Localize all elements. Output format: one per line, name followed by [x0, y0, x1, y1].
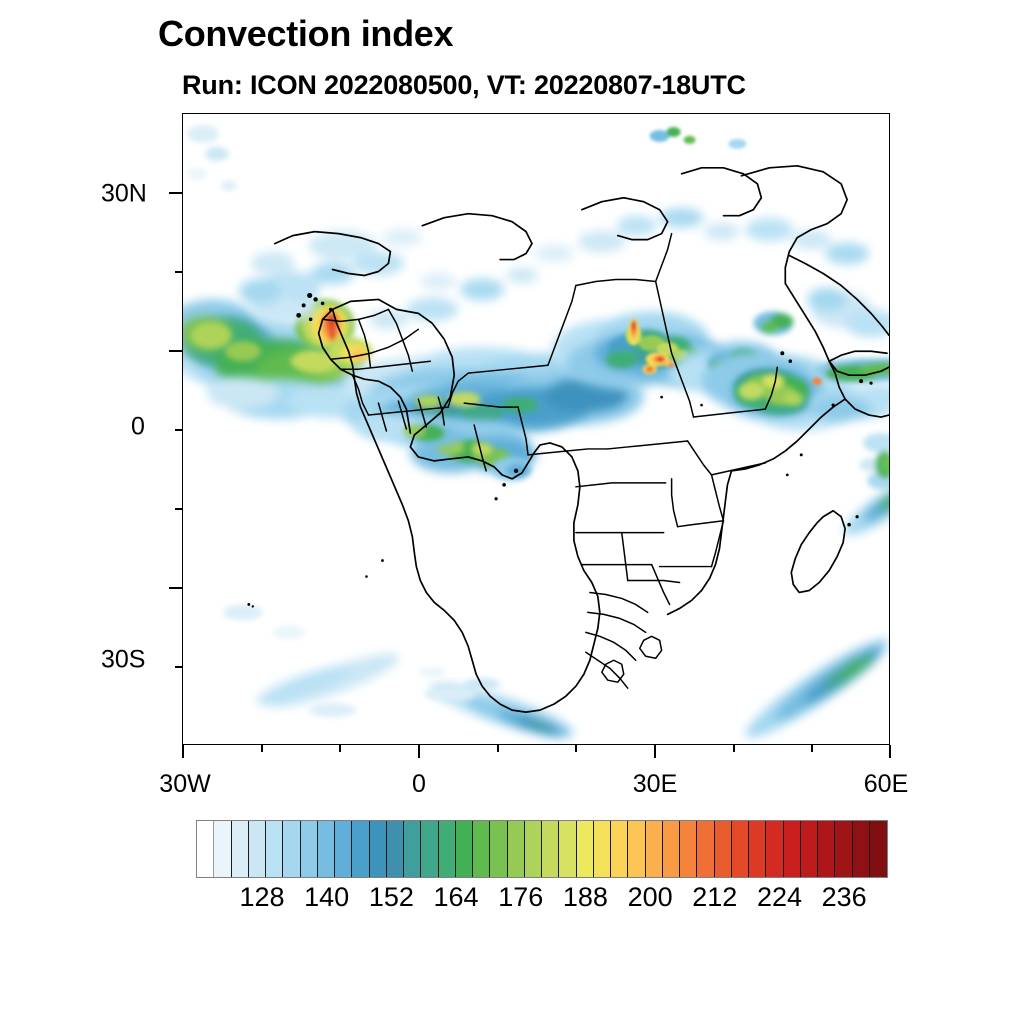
x-tick-major [418, 745, 420, 758]
colorbar-cell [697, 821, 714, 877]
colorbar-tick-label: 236 [822, 884, 867, 911]
convection-field-layer [183, 125, 889, 744]
colorbar-cell [387, 821, 404, 877]
x-axis-label-1: 0 [412, 772, 426, 797]
map-plot-area[interactable] [182, 113, 890, 745]
west-africa-atlantic-cluster [183, 278, 378, 419]
colorbar-cell [232, 821, 249, 877]
colorbar-tick-label: 224 [757, 884, 802, 911]
colorbar-cell [611, 821, 628, 877]
colorbar-cell [370, 821, 387, 877]
y-axis-label-0: 30N [101, 182, 147, 207]
x-tick-minor [261, 745, 263, 752]
colorbar-cell [766, 821, 783, 877]
colorbar-cell [283, 821, 300, 877]
colorbar-tick-label: 212 [692, 884, 737, 911]
colorbar-tick-label: 140 [304, 884, 349, 911]
y-tick-minor [175, 508, 182, 510]
colorbar-cell [473, 821, 490, 877]
colorbar-tick-label: 128 [239, 884, 284, 911]
colorbar[interactable] [196, 820, 888, 878]
page-title: Convection index [158, 16, 453, 52]
colorbar-cell [421, 821, 438, 877]
colorbar-cell [456, 821, 473, 877]
y-axis-label-1: 0 [131, 415, 145, 440]
colorbar-cell [801, 821, 818, 877]
colorbar-cell [542, 821, 559, 877]
colorbar-cell [577, 821, 594, 877]
x-tick-minor [339, 745, 341, 752]
nw-atlantic-cells [187, 125, 237, 191]
colorbar-cell [680, 821, 697, 877]
colorbar-tick-label: 164 [434, 884, 479, 911]
colorbar-cell [352, 821, 369, 877]
colorbar-cell [318, 821, 335, 877]
x-tick-minor [575, 745, 577, 752]
x-tick-minor [733, 745, 735, 752]
y-tick-minor [175, 271, 182, 273]
colorbar-cell [559, 821, 576, 877]
colorbar-cell [732, 821, 749, 877]
colorbar-cell [439, 821, 456, 877]
colorbar-cell [594, 821, 611, 877]
colorbar-cell [749, 821, 766, 877]
page-subtitle: Run: ICON 2022080500, VT: 20220807-18UTC [182, 72, 746, 99]
colorbar-cell [214, 821, 231, 877]
y-tick-minor [175, 429, 182, 431]
x-tick-minor [497, 745, 499, 752]
colorbar-cell [646, 821, 663, 877]
colorbar-tick-label: 152 [369, 884, 414, 911]
colorbar-cell [784, 821, 801, 877]
colorbar-cell [266, 821, 283, 877]
x-tick-minor [811, 745, 813, 752]
aegean-cells [650, 127, 747, 149]
x-axis-label-2: 30E [633, 772, 677, 797]
colorbar-cell [715, 821, 732, 877]
colorbar-cell [490, 821, 507, 877]
colorbar-cell [853, 821, 870, 877]
y-tick-major [169, 587, 182, 589]
colorbar-cell [404, 821, 421, 877]
x-tick-major [182, 745, 184, 758]
x-axis-label-3: 60E [864, 772, 908, 797]
colorbar-tick-label: 200 [628, 884, 673, 911]
colorbar-cell [663, 821, 680, 877]
indian-ocean-cells [859, 433, 889, 490]
colorbar-tick-label: 188 [563, 884, 608, 911]
x-tick-major [889, 745, 891, 758]
colorbar-cell [197, 821, 214, 877]
map-canvas [183, 114, 889, 744]
colorbar-cell [835, 821, 852, 877]
y-tick-major [169, 350, 182, 352]
y-axis-label-2: 30S [101, 648, 145, 673]
x-axis-label-0: 30W [159, 772, 210, 797]
colorbar-cell [628, 821, 645, 877]
y-tick-major [169, 192, 182, 194]
colorbar-cell [249, 821, 266, 877]
colorbar-cell [870, 821, 887, 877]
colorbar-cell [508, 821, 525, 877]
colorbar-cell [818, 821, 835, 877]
ethiopia-convection [702, 287, 889, 431]
x-tick-major [654, 745, 656, 758]
y-tick-minor [175, 666, 182, 668]
colorbar-tick-label: 176 [498, 884, 543, 911]
colorbar-cell [525, 821, 542, 877]
colorbar-cell [301, 821, 318, 877]
colorbar-cell [335, 821, 352, 877]
